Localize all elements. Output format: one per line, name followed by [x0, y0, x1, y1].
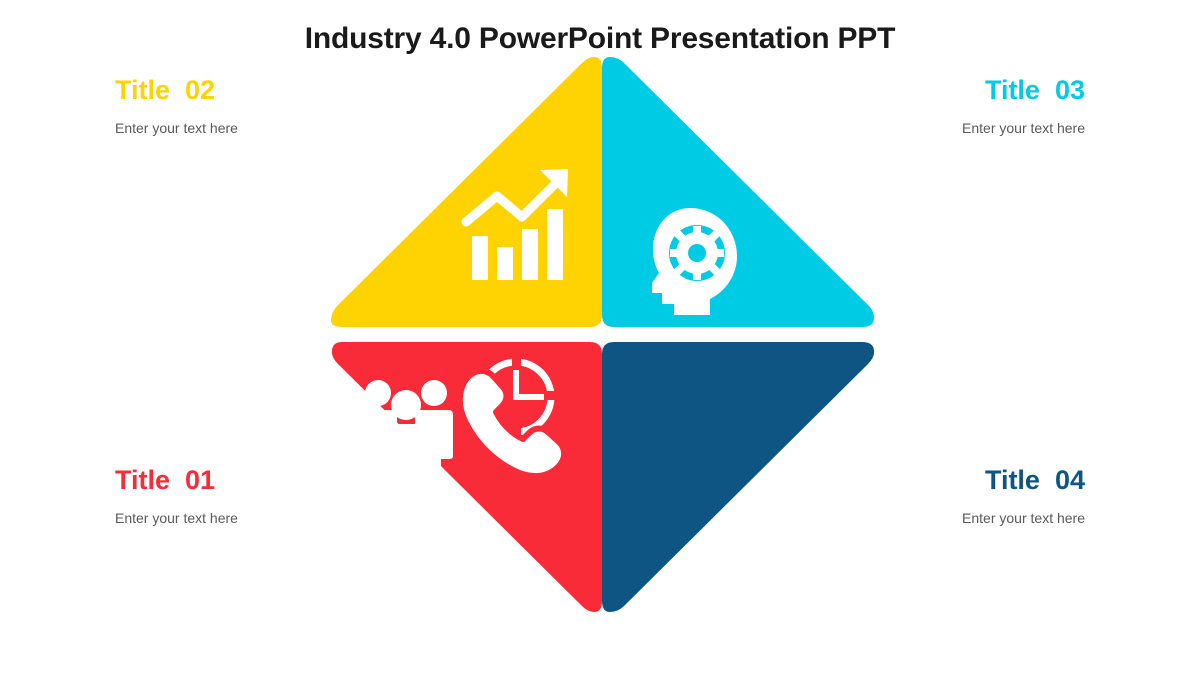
label-title-bottom-right: Title 04	[825, 466, 1085, 496]
label-block-bottom-left[interactable]: Title 01 Enter your text here	[115, 466, 375, 526]
label-block-top-right[interactable]: Title 03 Enter your text here	[825, 76, 1085, 136]
segment-navy[interactable]	[359, 342, 874, 612]
diamond-pinwheel-diagram	[316, 57, 888, 612]
label-block-top-left[interactable]: Title 02 Enter your text here	[115, 76, 375, 136]
label-subtitle-bottom-right: Enter your text here	[825, 510, 1085, 527]
label-subtitle-top-right: Enter your text here	[825, 120, 1085, 137]
label-block-bottom-right[interactable]: Title 04 Enter your text here	[825, 466, 1085, 526]
label-title-bottom-left: Title 01	[115, 466, 375, 496]
label-subtitle-top-left: Enter your text here	[115, 120, 375, 137]
label-subtitle-bottom-left: Enter your text here	[115, 510, 375, 527]
label-title-top-right: Title 03	[825, 76, 1085, 106]
page-title: Industry 4.0 PowerPoint Presentation PPT	[0, 22, 1200, 55]
label-title-top-left: Title 02	[115, 76, 375, 106]
